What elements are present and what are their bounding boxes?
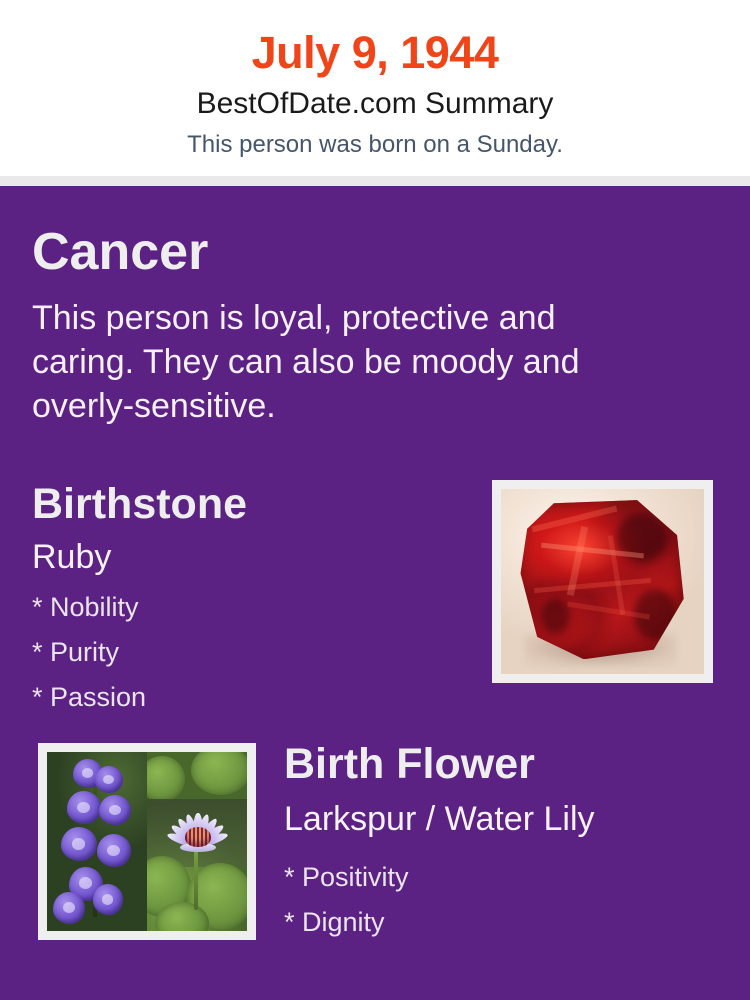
larkspur-bloom (61, 827, 97, 861)
ruby-facet (531, 506, 617, 533)
lily-pad (191, 752, 247, 795)
larkspur-bloom (93, 884, 123, 914)
list-item: * Dignity (284, 900, 704, 945)
page-title-date: July 9, 1944 (0, 25, 750, 80)
ruby-facet (534, 578, 650, 593)
birthstone-name: Ruby (32, 536, 111, 578)
water-lily-photo-half (147, 752, 247, 931)
birth-flower-name: Larkspur / Water Lily (284, 798, 595, 840)
birthstone-heading: Birthstone (32, 478, 247, 530)
ruby-dark-region (541, 599, 571, 634)
larkspur-bloom (53, 892, 85, 924)
header-divider (0, 176, 750, 186)
birth-flower-trait-list: * Positivity * Dignity (284, 855, 704, 945)
birth-flower-heading: Birth Flower (284, 738, 535, 790)
born-day-note: This person was born on a Sunday. (0, 130, 750, 160)
birthstone-image-frame (492, 480, 713, 683)
zodiac-sign-title: Cancer (32, 221, 208, 283)
birth-flower-image-frame (38, 743, 256, 940)
birthstone-trait-list: * Nobility * Purity * Passion (32, 585, 452, 720)
larkspur-bloom (97, 834, 131, 866)
larkspur-bloom (95, 766, 123, 793)
list-item: * Passion (32, 675, 452, 720)
lily-stem (194, 845, 198, 909)
zodiac-description: This person is loyal, protective and car… (32, 296, 642, 428)
birth-flower-image (47, 752, 247, 931)
larkspur-bloom (67, 791, 101, 823)
birthday-summary-card: July 9, 1944 BestOfDate.com Summary This… (0, 0, 750, 1000)
list-item: * Positivity (284, 855, 704, 900)
site-summary-label: BestOfDate.com Summary (0, 86, 750, 122)
ruby-stone-shape (517, 500, 683, 659)
larkspur-photo-half (47, 752, 147, 931)
larkspur-bloom (99, 795, 131, 825)
water-lily-bloom (163, 791, 233, 852)
header: July 9, 1944 BestOfDate.com Summary This… (0, 0, 750, 176)
list-item: * Nobility (32, 585, 452, 630)
lily-stamen-center (185, 827, 212, 848)
list-item: * Purity (32, 630, 452, 675)
ruby-crystal-image (501, 489, 704, 674)
